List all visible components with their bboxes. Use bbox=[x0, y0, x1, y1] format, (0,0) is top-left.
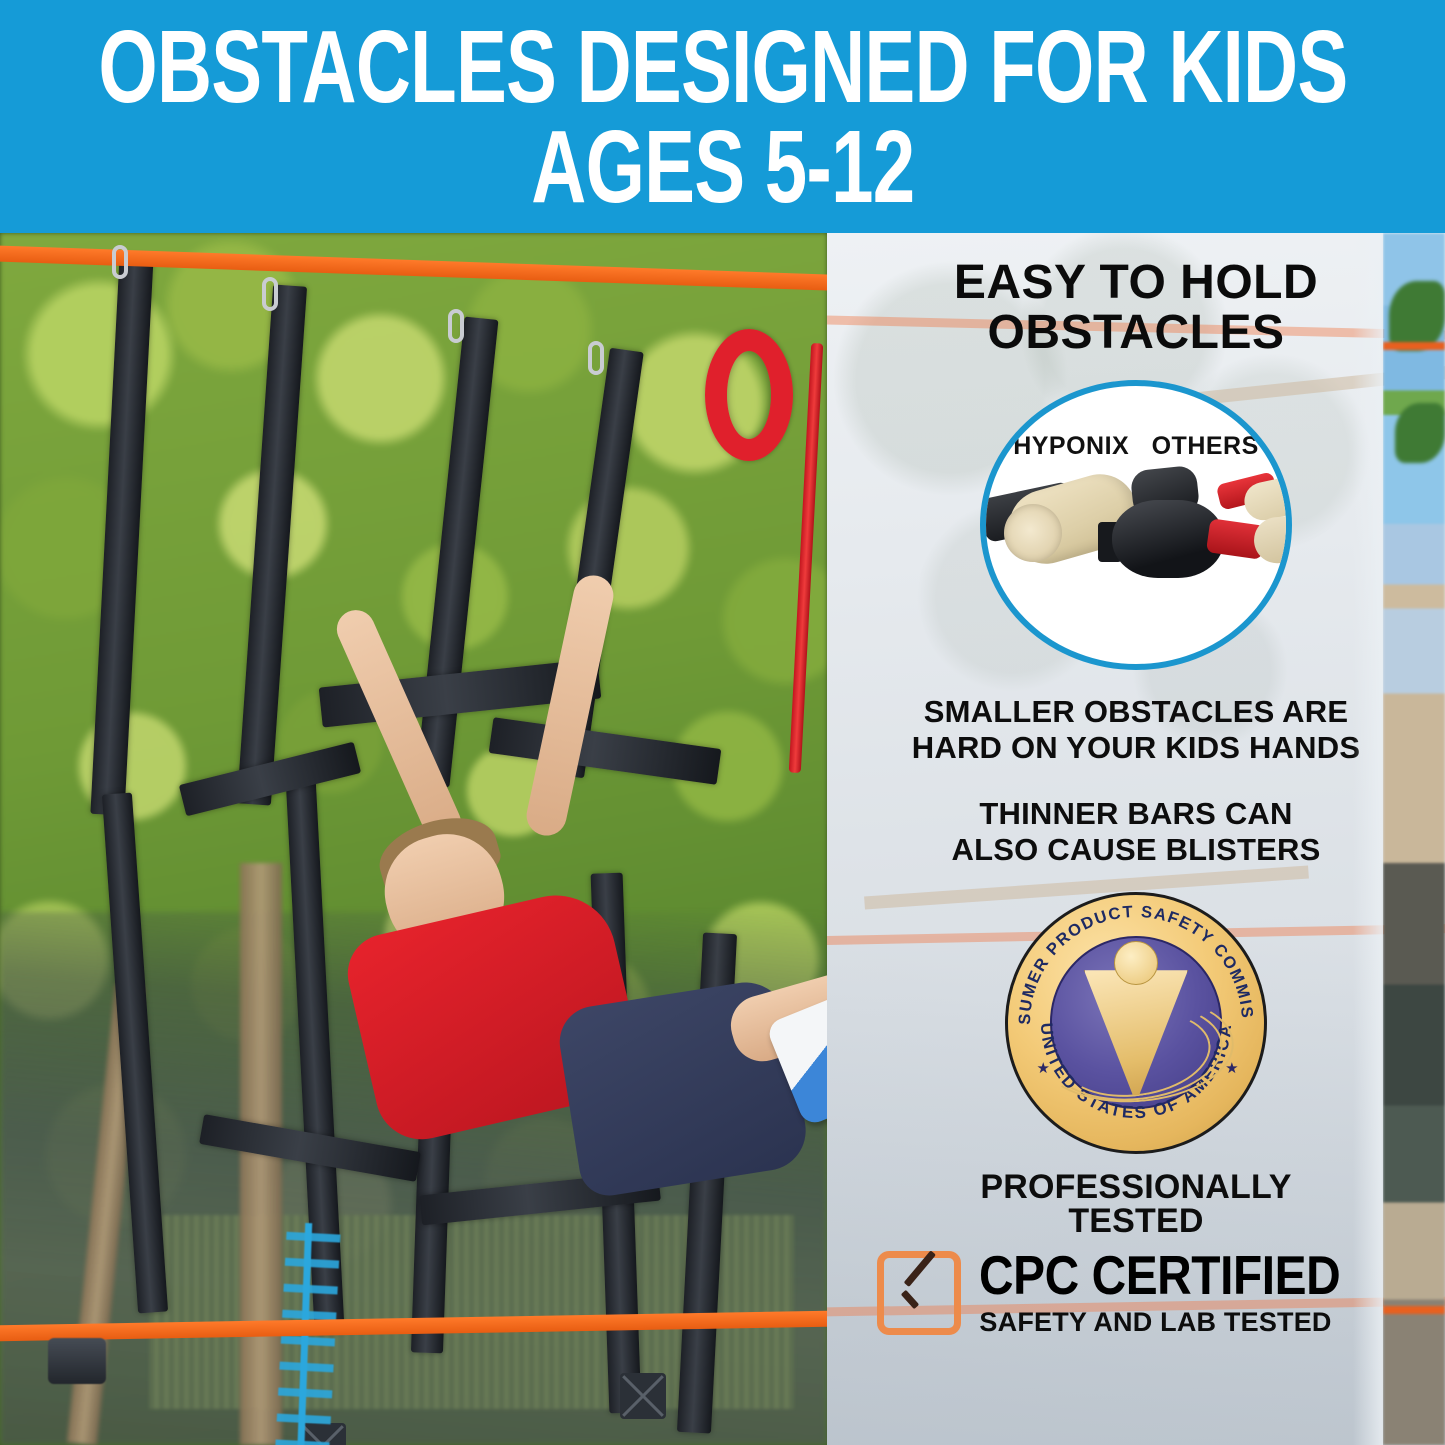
edge-slackline bbox=[1383, 342, 1445, 350]
edge-leaf bbox=[1395, 403, 1445, 463]
cpc-certified-block: CPC CERTIFIED SAFETY AND LAB TESTED bbox=[877, 1249, 1394, 1338]
label-hyponix: HYPONIX bbox=[1013, 432, 1129, 461]
carabiner-clip bbox=[448, 309, 464, 343]
lifestyle-photo bbox=[0, 233, 827, 1445]
carabiner-clip bbox=[112, 245, 128, 279]
panel-heading-line-1: EASY TO HOLD bbox=[954, 258, 1318, 308]
carabiner-clip bbox=[262, 277, 278, 311]
cpc-texts: CPC CERTIFIED SAFETY AND LAB TESTED bbox=[979, 1249, 1394, 1338]
checkmark-icon bbox=[877, 1251, 961, 1335]
label-others: OTHERS bbox=[1152, 432, 1259, 461]
panel-heading-line-2: OBSTACLES bbox=[954, 308, 1318, 358]
headline-line-1: OBSTACLES DESIGNED FOR KIDS bbox=[98, 19, 1347, 115]
cpc-subtitle: SAFETY AND LAB TESTED bbox=[979, 1307, 1394, 1338]
strap-x-pad bbox=[620, 1373, 666, 1419]
product-infographic: OBSTACLES DESIGNED FOR KIDS AGES 5-12 bbox=[0, 0, 1445, 1445]
red-gymnastic-ring bbox=[705, 329, 793, 461]
benefit-text-1-line-2: HARD ON YOUR KIDS HANDS bbox=[912, 730, 1360, 766]
child-climbing bbox=[300, 563, 827, 1323]
edge-fade-overlay bbox=[1353, 233, 1383, 1445]
comparison-circle: HYPONIX OTHERS bbox=[980, 380, 1292, 670]
benefit-text-2-line-2: ALSO CAUSE BLISTERS bbox=[952, 832, 1321, 868]
hyponix-wood-end bbox=[1004, 504, 1062, 562]
child-arm-left bbox=[331, 604, 467, 848]
benefit-text-2: THINNER BARS CAN ALSO CAUSE BLISTERS bbox=[952, 796, 1321, 868]
headline-banner: OBSTACLES DESIGNED FOR KIDS AGES 5-12 bbox=[0, 0, 1445, 233]
edge-slackline bbox=[1383, 1306, 1445, 1314]
cpsc-seal-icon: ★ ★ CONSUMER PRODUCT SAFETY COMMISSION U… bbox=[1005, 892, 1267, 1154]
professionally-tested-text: PROFESSIONALLY TESTED bbox=[980, 1170, 1291, 1239]
cpsc-star-left: ★ bbox=[1036, 1059, 1049, 1077]
child-arm-right bbox=[523, 572, 617, 840]
cpc-title: CPC CERTIFIED bbox=[979, 1249, 1340, 1303]
photo-edge-strip bbox=[1383, 233, 1445, 1445]
comparison-labels: HYPONIX OTHERS bbox=[986, 432, 1286, 461]
tested-line-1: PROFESSIONALLY bbox=[980, 1170, 1291, 1205]
benefit-text-1-line-1: SMALLER OBSTACLES ARE bbox=[912, 694, 1360, 730]
benefit-text-1: SMALLER OBSTACLES ARE HARD ON YOUR KIDS … bbox=[912, 694, 1360, 766]
tested-line-2: TESTED bbox=[980, 1204, 1291, 1239]
carabiner-clip bbox=[588, 341, 604, 375]
benefit-text-2-line-1: THINNER BARS CAN bbox=[952, 796, 1321, 832]
panel-heading: EASY TO HOLD OBSTACLES bbox=[954, 258, 1318, 358]
line-anchor-hardware bbox=[48, 1338, 106, 1384]
cpsc-star-right: ★ bbox=[1225, 1059, 1238, 1077]
headline-line-2: AGES 5-12 bbox=[531, 119, 914, 215]
edge-leaf bbox=[1389, 281, 1445, 351]
